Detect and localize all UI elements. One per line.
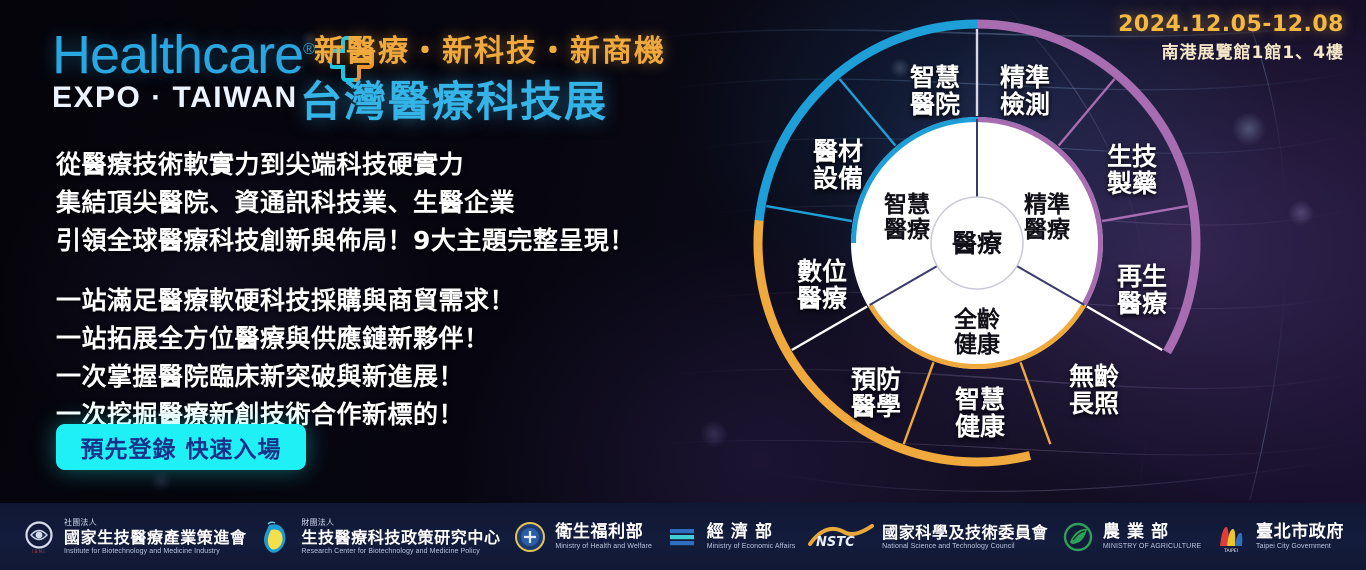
sponsor-name: 農 業 部	[1103, 523, 1201, 542]
sponsor-prefix: 財團法人	[301, 518, 500, 528]
outer-divider	[839, 79, 895, 146]
sponsor-text: 衛生福利部 Ministry of Health and Welfare	[555, 523, 652, 551]
svg-text:TAIPEI: TAIPEI	[1223, 548, 1238, 554]
nstc-logo-icon: NSTC	[808, 520, 874, 554]
sponsor-item-mohw: 衛生福利部 Ministry of Health and Welfare	[513, 520, 652, 554]
copy-line: 一次掌握醫院臨床新突破與新進展！	[56, 358, 656, 396]
preregister-button-label: 預先登錄 快速入場	[80, 430, 281, 464]
banner-root: Healthcare® EXPO · TAIWAN 新醫療・新科技・新商機 台灣…	[0, 0, 1366, 570]
sponsor-name-en: Institute for Biotechnology and Medicine…	[64, 547, 247, 556]
wheel-outer-label-smart-hospital: 智慧醫院	[905, 64, 965, 118]
sponsor-name: 臺北市政府	[1256, 523, 1344, 542]
copy-line: 一站滿足醫療軟硬科技採購與商貿需求！	[56, 282, 656, 320]
sponsor-item-moea: 經 濟 部 Ministry of Economic Affairs	[665, 520, 796, 554]
svg-text:NSTC: NSTC	[816, 535, 855, 550]
sponsor-item-rbmp: 財團法人 生技醫療科技政策研究中心 Research Center for Bi…	[259, 518, 500, 556]
outer-divider	[792, 307, 867, 351]
sponsor-name-en: Ministry of Health and Welfare	[555, 542, 652, 551]
moa-logo-icon	[1061, 520, 1095, 554]
moea-logo-icon	[665, 520, 699, 554]
outer-divider	[1102, 206, 1188, 221]
sponsor-name-en: Research Center for Biotechnology and Me…	[301, 547, 500, 556]
event-title-chinese: 台灣醫療科技展	[300, 68, 608, 129]
taipei-city-logo-icon: TAIPEI	[1214, 520, 1248, 554]
wheel-outer-label-regenerative-medicine: 再生醫療	[1112, 263, 1172, 317]
preregister-button[interactable]: 預先登錄 快速入場	[56, 424, 306, 470]
outer-divider	[904, 362, 934, 444]
sponsor-name: 國家生技醫療產業策進會	[64, 528, 247, 547]
wheel-outer-label-medical-equipment: 醫材設備	[808, 138, 868, 192]
outer-divider	[1021, 362, 1051, 444]
mohw-logo-icon	[513, 520, 547, 554]
copy-line: 從醫療技術軟實力到尖端科技硬實力	[56, 146, 656, 184]
sponsor-name-en: MINISTRY OF AGRICULTURE	[1103, 542, 1201, 551]
ibmi-logo-icon: I.B.M.I.	[22, 520, 56, 554]
sponsor-text: 社團法人 國家生技醫療產業策進會 Institute for Biotechno…	[64, 518, 247, 556]
sponsor-name-en: National Science and Technology Council	[882, 542, 1048, 551]
wheel-outer-label-digital-medicine: 數位醫療	[792, 258, 852, 312]
wheel-outer-label-preventive-medicine: 預防醫學	[846, 366, 906, 420]
wheel-outer-label-smart-health: 智慧健康	[950, 386, 1010, 440]
sponsor-item-nstc: NSTC 國家科學及技術委員會 National Science and Tec…	[808, 520, 1048, 554]
sponsor-text: 國家科學及技術委員會 National Science and Technolo…	[882, 523, 1048, 551]
sponsor-item-ibmi: I.B.M.I. 社團法人 國家生技醫療產業策進會 Institute for …	[22, 518, 247, 556]
copy-line: 引領全球醫療科技創新與佈局！9大主題完整呈現！	[56, 222, 656, 260]
sponsor-bar: I.B.M.I. 社團法人 國家生技醫療產業策進會 Institute for …	[0, 503, 1366, 570]
sponsor-name: 生技醫療科技政策研究中心	[301, 528, 500, 547]
wheel-inner-label-smart-medicine: 智慧醫療	[879, 193, 935, 243]
sponsor-name: 國家科學及技術委員會	[882, 523, 1048, 542]
rbmp-logo-icon	[259, 520, 293, 554]
wheel-outer-label-biotech-pharma: 生技製藥	[1102, 143, 1162, 197]
wheel-inner-label-all-age-health: 全齡健康	[949, 308, 1005, 358]
sponsor-name: 衛生福利部	[555, 523, 652, 542]
wheel-hub-label: 醫療	[947, 230, 1007, 257]
outer-divider	[766, 206, 852, 221]
copy-line: 集結頂尖醫院、資通訊科技業、生醫企業	[56, 184, 656, 222]
svg-text:I.B.M.I.: I.B.M.I.	[32, 549, 46, 554]
sponsor-name: 經 濟 部	[707, 523, 796, 542]
outer-divider	[1059, 79, 1115, 146]
sponsor-text: 經 濟 部 Ministry of Economic Affairs	[707, 523, 796, 551]
sponsor-prefix: 社團法人	[64, 518, 247, 528]
sponsor-item-moa: 農 業 部 MINISTRY OF AGRICULTURE	[1061, 520, 1201, 554]
wheel-outer-label-ageless-care: 無齡長照	[1064, 363, 1124, 417]
logo-healthcare-word: Healthcare	[52, 25, 303, 85]
marketing-copy: 從醫療技術軟實力到尖端科技硬實力 集結頂尖醫院、資通訊科技業、生醫企業 引領全球…	[56, 146, 656, 434]
wheel-outer-label-precision-testing: 精準檢測	[995, 64, 1055, 118]
wheel-inner-label-precision-medicine: 精準醫療	[1019, 193, 1075, 243]
copy-spacer	[56, 260, 656, 282]
sponsor-name-en: Ministry of Economic Affairs	[707, 542, 796, 551]
copy-line: 一站拓展全方位醫療與供應鏈新夥伴！	[56, 320, 656, 358]
sponsor-text: 財團法人 生技醫療科技政策研究中心 Research Center for Bi…	[301, 518, 500, 556]
sponsor-item-taipei-city: TAIPEI 臺北市政府 Taipei City Government	[1214, 520, 1344, 554]
sponsor-text: 臺北市政府 Taipei City Government	[1256, 523, 1344, 551]
tagline-chinese: 新醫療・新科技・新商機	[314, 26, 666, 70]
registered-mark-icon: ®	[303, 41, 314, 58]
sponsor-name-en: Taipei City Government	[1256, 542, 1344, 551]
themes-wheel-diagram: 醫療 智慧醫療 精準醫療 全齡健康 智慧醫院 精準檢測 生技製藥 再生醫療 無齡…	[742, 8, 1212, 478]
sponsor-text: 農 業 部 MINISTRY OF AGRICULTURE	[1103, 523, 1201, 551]
